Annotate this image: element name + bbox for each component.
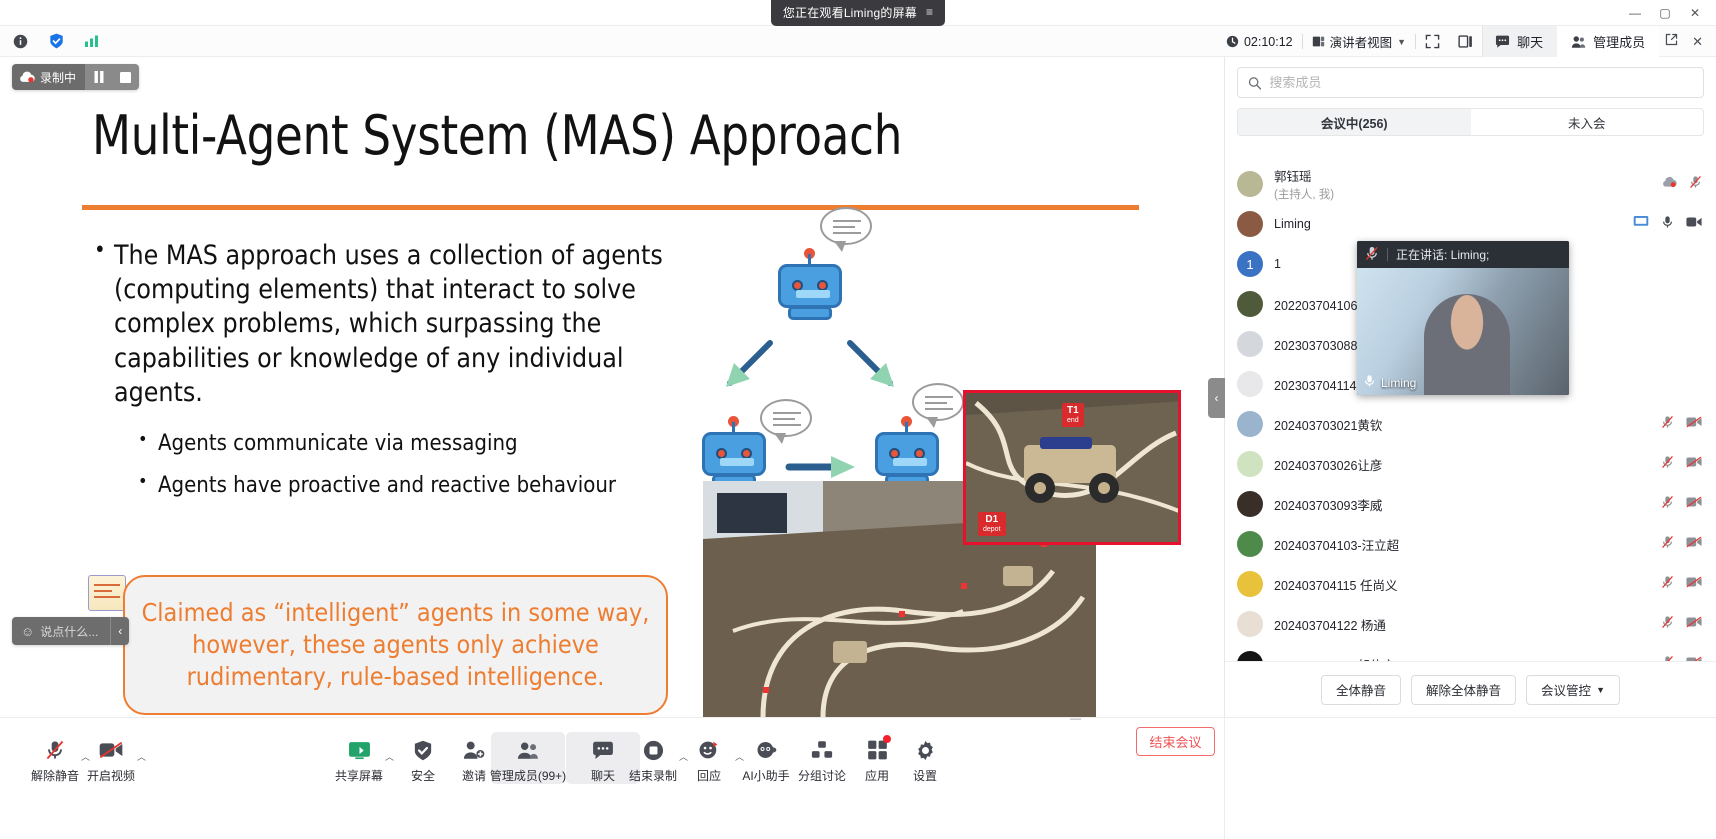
participant-status-icons: [1633, 215, 1702, 234]
camera-off-icon[interactable]: [1686, 615, 1702, 633]
toolbar-button-label: 分组讨论: [798, 767, 846, 784]
toolbar-button-label: AI小助手: [742, 767, 789, 784]
video-person-silhouette: [1424, 294, 1510, 395]
pause-icon: [94, 71, 104, 83]
participant-row[interactable]: 202403703026让彦: [1225, 444, 1716, 484]
avatar: [1237, 291, 1263, 317]
cloud-icon[interactable]: [1662, 175, 1677, 193]
toolbar-button-label: 管理成员(99+): [490, 767, 566, 784]
stop-recording-button[interactable]: [112, 64, 139, 90]
camera-icon[interactable]: [1686, 215, 1702, 233]
photo-tag-t1: T1 end: [1062, 403, 1084, 427]
mic-muted-icon: [1365, 246, 1379, 264]
popout-icon: [1665, 33, 1678, 46]
participant-row[interactable]: 202403704103-汪立超: [1225, 524, 1716, 564]
breakout-rooms-icon: [811, 737, 833, 763]
share-screen-icon: [348, 737, 371, 763]
collapse-panel-handle[interactable]: ‹: [1208, 378, 1225, 418]
robot-icon-top: [778, 254, 842, 316]
camera-off-icon: [99, 737, 123, 763]
split-view-icon: [1458, 34, 1473, 49]
participant-list[interactable]: 郭钰瑶(主持人, 我)Liming11202203704106曾超2023037…: [1225, 164, 1716, 661]
bottom-toolbar-divider: [1224, 717, 1225, 839]
toolbar-button-label: 安全: [411, 767, 435, 784]
avatar: [1237, 171, 1263, 197]
robot-icon-left: [702, 422, 766, 484]
fullscreen-button[interactable]: [1416, 26, 1449, 57]
signal-icon[interactable]: [82, 31, 102, 51]
shared-screen-stage: Multi-Agent System (MAS) Approach The MA…: [0, 57, 1220, 717]
participant-name: 郭钰瑶(主持人, 我): [1274, 166, 1651, 202]
toolbar-button-管理成员(99+)[interactable]: 管理成员(99+): [491, 732, 565, 784]
toolbar-button-label: 邀请: [462, 767, 486, 784]
fullscreen-icon: [1425, 34, 1440, 49]
chevron-down-icon: ▼: [1397, 37, 1406, 47]
speech-bubble-icon-2: [760, 399, 812, 437]
unmute-all-button[interactable]: 解除全体静音: [1411, 675, 1516, 705]
window-controls: — ▢ ✕: [1620, 0, 1710, 26]
bullet-sub-1: Agents have proactive and reactive behav…: [92, 472, 692, 500]
view-mode-label: 演讲者视图: [1330, 32, 1393, 51]
slide-callout: Claimed as “intelligent” agents in some …: [123, 575, 668, 715]
avatar: [1237, 651, 1263, 661]
top-toolbar-right: 02:10:12 演讲者视图 ▼ 聊天 管理成员: [1217, 26, 1716, 57]
toolbar-button-共享屏幕[interactable]: 共享屏幕︿: [322, 732, 396, 784]
avatar: 1: [1237, 251, 1263, 277]
participants-icon: [1571, 35, 1586, 49]
chat-icon: [1495, 35, 1510, 49]
participants-panel-footer: 全体静音 解除全体静音 会议管控 ▼: [1225, 661, 1716, 717]
tab-chat[interactable]: 聊天: [1482, 26, 1557, 57]
participant-row[interactable]: 202403703093李威: [1225, 484, 1716, 524]
speaker-view-icon: [1312, 35, 1325, 48]
participant-name: 202403703026让彦: [1274, 455, 1650, 474]
photo-tag-d1-label: D1: [983, 514, 1001, 526]
search-input[interactable]: [1269, 75, 1693, 90]
camera-off-icon[interactable]: [1686, 455, 1702, 473]
robot-icon-right: [875, 422, 939, 484]
participant-status-icons: [1662, 175, 1702, 194]
view-mode-selector[interactable]: 演讲者视图 ▼: [1303, 26, 1415, 57]
recording-status: 录制中: [12, 64, 85, 90]
toolbar-button-label: 共享屏幕: [335, 767, 383, 784]
panel-controls: ✕: [1659, 33, 1716, 51]
avatar: [1237, 411, 1263, 437]
pause-recording-button[interactable]: [85, 64, 112, 90]
recording-label: 录制中: [40, 69, 76, 86]
meeting-bottom-toolbar: 解除静音︿开启视频︿共享屏幕︿安全邀请管理成员(99+)聊天结束录制︿回应︿AI…: [0, 717, 1716, 839]
quick-comment-input[interactable]: 说点什么...: [40, 623, 110, 640]
apps-icon: [867, 737, 888, 763]
mic-active-icon: [1363, 374, 1376, 391]
avatar: [1237, 451, 1263, 477]
top-toolbar: 02:10:12 演讲者视图 ▼ 聊天 管理成员: [0, 26, 1716, 57]
chevron-up-icon[interactable]: ︿: [137, 750, 146, 763]
floating-video-thumbnail[interactable]: 正在讲话: Liming; Liming: [1357, 241, 1569, 395]
tab-not-joined[interactable]: 未入会: [1471, 109, 1704, 135]
chevron-down-icon: ▼: [1596, 685, 1605, 695]
watching-screen-notice: 您正在观看Liming的屏幕 ≡: [771, 0, 945, 26]
arrow-horizontal-icon: [785, 452, 857, 482]
screen-share-icon[interactable]: [1633, 215, 1649, 233]
close-panel-button[interactable]: ✕: [1692, 34, 1703, 50]
split-view-button[interactable]: [1449, 26, 1482, 57]
close-window-button[interactable]: ✕: [1680, 1, 1710, 25]
slide-title: Multi-Agent System (MAS) Approach: [92, 104, 902, 167]
window-title-bar: 您正在观看Liming的屏幕 ≡ — ▢ ✕: [0, 0, 1716, 26]
cloud-recording-icon: [19, 71, 35, 83]
stop-record-icon: [643, 737, 664, 763]
tab-manage-participants[interactable]: 管理成员: [1557, 26, 1659, 57]
host-tools-label: 会议管控: [1541, 680, 1591, 699]
photo-tag-d1-sub: depot: [983, 526, 1001, 534]
photo-tag-t1-sub: end: [1067, 417, 1079, 425]
popout-panel-button[interactable]: [1665, 33, 1678, 51]
mic-icon[interactable]: [1661, 215, 1674, 234]
quick-comment-bar: ☺ 说点什么... ‹: [12, 617, 129, 645]
emoji-icon[interactable]: ☺: [12, 624, 40, 639]
shield-icon: [413, 737, 433, 763]
ai-assistant-icon: [755, 737, 778, 763]
participant-row[interactable]: Liming: [1225, 204, 1716, 244]
speech-bubble-icon-3: [912, 383, 964, 421]
floating-video-name: Liming: [1381, 376, 1416, 390]
camera-off-icon[interactable]: [1686, 535, 1702, 553]
toolbar-button-设置[interactable]: 设置: [888, 732, 962, 784]
photo-tag-t1-label: T1: [1067, 405, 1079, 417]
bullet-main: The MAS approach uses a collection of ag…: [92, 239, 692, 410]
avatar: [1237, 531, 1263, 557]
reaction-icon: [698, 737, 720, 763]
speech-bubble-icon: [820, 207, 872, 245]
participant-row[interactable]: 郭钰瑶(主持人, 我): [1225, 164, 1716, 204]
participant-status-icons: [1661, 455, 1702, 474]
meeting-timer-value: 02:10:12: [1244, 35, 1293, 49]
watching-screen-text: 您正在观看Liming的屏幕: [783, 4, 917, 21]
toolbar-button-label: 应用: [865, 767, 889, 784]
invite-icon: [463, 737, 485, 763]
mic-muted-icon: [45, 737, 65, 763]
watching-menu-icon[interactable]: ≡: [926, 5, 933, 19]
avatar: [1237, 491, 1263, 517]
participant-name: 202403704103-汪立超: [1274, 535, 1650, 554]
participant-name: Liming: [1274, 217, 1622, 231]
camera-off-icon[interactable]: [1686, 575, 1702, 593]
meeting-timer: 02:10:12: [1217, 26, 1302, 57]
toolbar-button-label: 开启视频: [87, 767, 135, 784]
mute-all-button[interactable]: 全体静音: [1321, 675, 1401, 705]
mic-muted-icon[interactable]: [1661, 495, 1674, 514]
tab-in-meeting[interactable]: 会议中(256): [1238, 109, 1471, 135]
camera-off-icon[interactable]: [1686, 495, 1702, 513]
mic-muted-icon[interactable]: [1661, 535, 1674, 554]
toolbar-button-label: 设置: [913, 767, 937, 784]
recording-indicator: 录制中: [12, 64, 139, 90]
bottom-toolbar-items: 解除静音︿开启视频︿共享屏幕︿安全邀请管理成员(99+)聊天结束录制︿回应︿AI…: [0, 718, 1716, 839]
mic-muted-icon[interactable]: [1661, 455, 1674, 474]
participant-search-box[interactable]: [1237, 67, 1704, 98]
avatar: [1237, 571, 1263, 597]
maximize-button[interactable]: ▢: [1650, 1, 1680, 25]
avatar: [1237, 211, 1263, 237]
avatar: [1237, 611, 1263, 637]
speaking-now-label: 正在讲话: Liming;: [1396, 246, 1489, 263]
quick-comment-collapse-button[interactable]: ‹: [110, 617, 129, 645]
mic-muted-icon[interactable]: [1661, 615, 1674, 634]
participant-search-wrapper: [1225, 57, 1716, 104]
participant-role: (主持人, 我): [1274, 186, 1651, 202]
photo-tag-d1: D1 depot: [978, 512, 1006, 536]
participant-name: 202403703093李威: [1274, 495, 1650, 514]
search-icon: [1248, 76, 1261, 90]
toolbar-button-label: 回应: [697, 767, 721, 784]
arrow-left-icon: [720, 337, 778, 391]
participant-status-icons: [1661, 615, 1702, 634]
participant-row[interactable]: 202403704122 杨通: [1225, 604, 1716, 644]
participants-icon: [517, 737, 539, 763]
sticky-note-icon: [88, 575, 126, 611]
slide-callout-text: Claimed as “intelligent” agents in some …: [139, 597, 652, 692]
participant-row[interactable]: 202403703021黄钦: [1225, 404, 1716, 444]
minimize-button[interactable]: —: [1620, 1, 1650, 25]
robot-car-photo: T1 end D1 depot: [963, 390, 1181, 545]
info-icon[interactable]: [10, 31, 30, 51]
participant-name: 202403703021黄钦: [1274, 415, 1650, 434]
tab-manage-label: 管理成员: [1593, 32, 1645, 51]
floating-video-divider: [1387, 248, 1388, 261]
end-meeting-button[interactable]: 结束会议: [1136, 727, 1215, 756]
mic-muted-icon[interactable]: [1661, 575, 1674, 594]
slide-bullets: The MAS approach uses a collection of ag…: [92, 239, 692, 501]
participant-filter-tabs: 会议中(256) 未入会: [1237, 108, 1704, 136]
camera-off-icon[interactable]: [1686, 415, 1702, 433]
participant-status-icons: [1661, 575, 1702, 594]
floating-video-titlebar: 正在讲话: Liming;: [1357, 241, 1569, 268]
clock-icon: [1226, 35, 1239, 48]
toolbar-button-开启视频[interactable]: 开启视频︿: [74, 732, 148, 784]
gear-icon: [915, 737, 936, 763]
stop-icon: [120, 72, 131, 83]
chat-icon: [592, 737, 614, 763]
floating-video-feed: Liming: [1357, 268, 1569, 395]
participant-name: 202403704115 任尚义: [1274, 575, 1650, 594]
arrow-right-icon: [842, 337, 900, 391]
slide-next-arrow-icon: —: [1070, 713, 1081, 725]
participant-row[interactable]: 202403704115 任尚义: [1225, 564, 1716, 604]
floating-video-name-tag: Liming: [1363, 374, 1416, 391]
toolbar-button-label: 结束录制: [629, 767, 677, 784]
mic-muted-icon[interactable]: [1689, 175, 1702, 194]
participant-name: 202403704122 杨通: [1274, 615, 1650, 634]
participant-status-icons: [1661, 535, 1702, 554]
participant-status-icons: [1661, 495, 1702, 514]
host-tools-button[interactable]: 会议管控 ▼: [1526, 675, 1620, 705]
toolbar-button-label: 聊天: [591, 767, 615, 784]
participant-row[interactable]: 202403704141胡伟文: [1225, 644, 1716, 661]
top-toolbar-left: [0, 31, 102, 51]
shield-icon[interactable]: [46, 31, 66, 51]
participant-status-icons: [1661, 415, 1702, 434]
mic-muted-icon[interactable]: [1661, 415, 1674, 434]
avatar: [1237, 331, 1263, 357]
toolbar-button-label: 解除静音: [31, 767, 79, 784]
avatar: [1237, 371, 1263, 397]
bullet-sub-0: Agents communicate via messaging: [92, 430, 692, 458]
tab-chat-label: 聊天: [1517, 32, 1543, 51]
